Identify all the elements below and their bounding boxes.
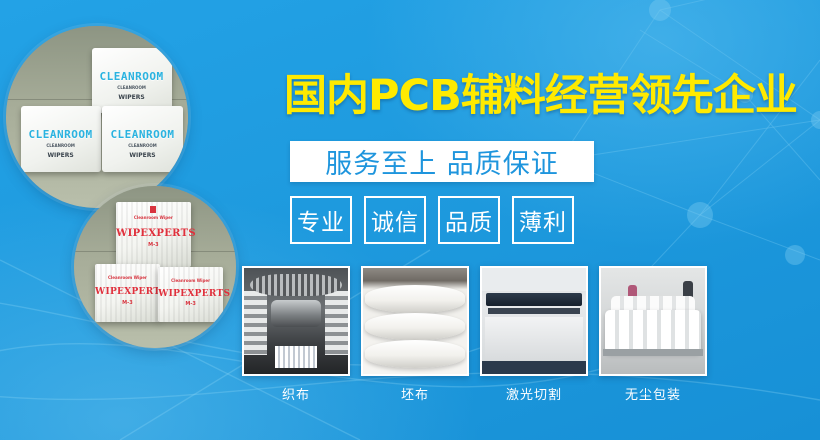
photo-frame-greige-fabric <box>361 266 469 376</box>
photo-frame-cleanroom-packaging <box>599 266 707 376</box>
keyword-box-4: 薄利 <box>512 196 574 244</box>
photo-caption: 无尘包装 <box>599 384 707 403</box>
process-photo-item: 激光切割 <box>480 266 588 403</box>
cleanroom-pack: CLEANROOM CLEANROOM WIPERS <box>21 106 101 172</box>
promo-banner: CLEANROOM CLEANROOM WIPERS CLEANROOM CLE… <box>0 0 820 440</box>
product-photo-cleanroom-wipers: CLEANROOM CLEANROOM WIPERS CLEANROOM CLE… <box>6 26 188 208</box>
keyword-box-2: 诚信 <box>364 196 426 244</box>
product-photo-wipexperts: Cleanroom Wiper WIPEXPERTS M-3 Cleanroom… <box>74 186 236 348</box>
keyword-list: 专业 诚信 品质 薄利 <box>290 196 574 244</box>
wipexperts-box: Cleanroom Wiper WIPEXPERTS M-3 <box>158 267 223 322</box>
photo-caption: 激光切割 <box>480 384 588 403</box>
process-photo-item: 织布 <box>242 266 350 403</box>
photo-caption: 坯布 <box>361 384 469 403</box>
photo-caption: 织布 <box>242 384 350 403</box>
banner-headline: 国内PCB辅料经营领先企业 <box>284 72 797 120</box>
slogan-text: 服务至上 品质保证 <box>325 142 559 181</box>
keyword-box-3: 品质 <box>438 196 500 244</box>
wipexperts-box: Cleanroom Wiper WIPEXPERTS M-3 <box>116 202 191 267</box>
process-photo-item: 坯布 <box>361 266 469 403</box>
process-photo-strip: 织布 坯布 激光切割 <box>242 266 707 403</box>
keyword-box-1: 专业 <box>290 196 352 244</box>
cleanroom-pack: CLEANROOM CLEANROOM WIPERS <box>102 106 182 172</box>
photo-frame-knitting <box>242 266 350 376</box>
slogan-bar: 服务至上 品质保证 <box>290 141 594 182</box>
photo-frame-laser-cutting <box>480 266 588 376</box>
process-photo-item: 无尘包装 <box>599 266 707 403</box>
wipexperts-box: Cleanroom Wiper WIPEXPERTS M-3 <box>95 264 160 322</box>
cleanroom-pack: CLEANROOM CLEANROOM WIPERS <box>92 48 172 114</box>
